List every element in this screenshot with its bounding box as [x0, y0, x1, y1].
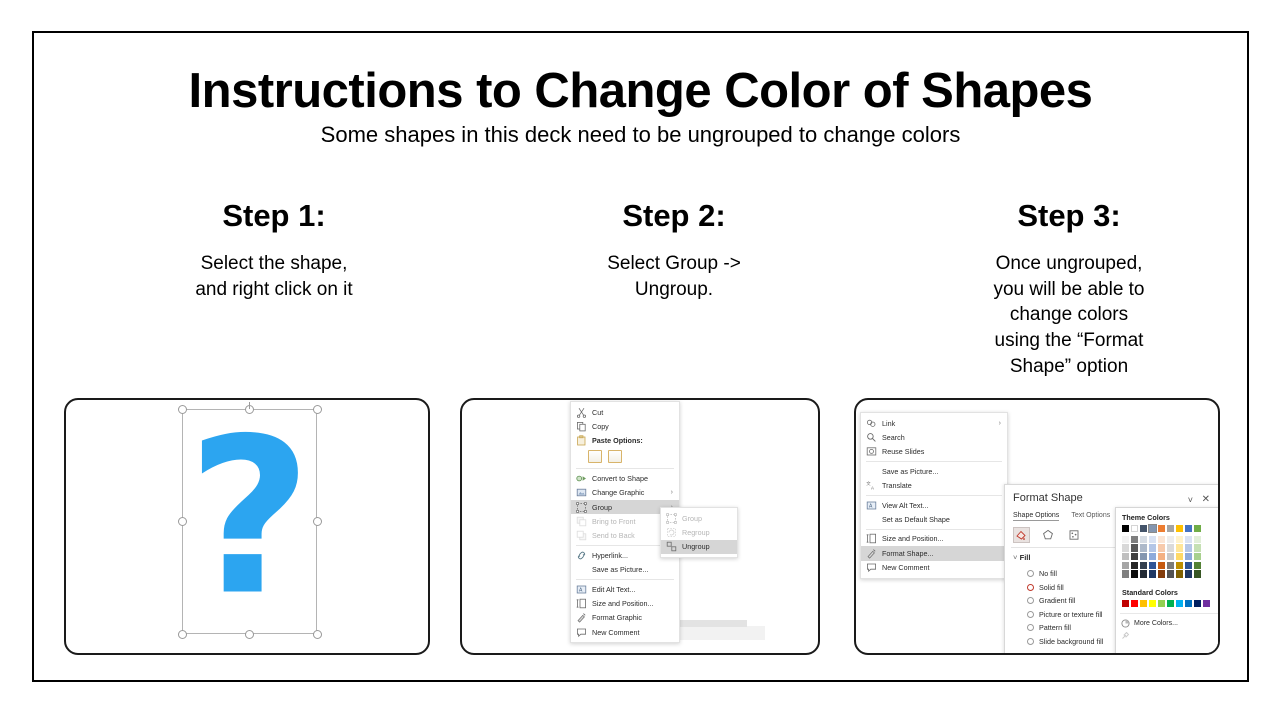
menu-item-label: Ungroup	[682, 542, 731, 551]
paste-icon	[576, 435, 587, 446]
regroup-icon	[666, 527, 677, 538]
theme-color-swatch[interactable]	[1131, 525, 1138, 532]
hyperlink-icon	[576, 550, 587, 561]
size-position-icon	[866, 533, 877, 544]
menu-item-label: Send to Back	[592, 531, 663, 540]
step-2-body: Select Group -> Ungroup.	[524, 251, 824, 302]
selection-handle[interactable]	[245, 630, 254, 639]
more-colors-label: More Colors...	[1134, 620, 1178, 627]
selection-handle[interactable]	[178, 517, 187, 526]
theme-color-column[interactable]	[1140, 525, 1147, 579]
effects-icon[interactable]	[1039, 527, 1056, 543]
theme-color-variant-swatch[interactable]	[1158, 562, 1165, 569]
slide-canvas: Instructions to Change Color of Shapes S…	[32, 31, 1249, 682]
theme-color-variant-swatch[interactable]	[1194, 536, 1201, 543]
selection-handle[interactable]	[313, 630, 322, 639]
fill-option-label: Gradient fill	[1039, 596, 1075, 605]
menu-item-label: Group	[592, 503, 663, 512]
standard-color-swatch[interactable]	[1158, 600, 1165, 607]
menu-item-label: New Comment	[592, 628, 673, 637]
menu-item-translate[interactable]: 文ATranslate	[861, 479, 1007, 493]
menu-item-label: Set as Default Shape	[882, 515, 1001, 524]
menu-item-label: Save as Picture...	[882, 467, 1001, 476]
menu-item-label: Size and Position...	[882, 534, 1001, 543]
standard-colors-swatches[interactable]	[1122, 600, 1212, 607]
theme-color-variant-swatch[interactable]	[1194, 553, 1201, 560]
change-graphic-icon	[576, 487, 587, 498]
menu-item-cut[interactable]: Cut	[571, 405, 679, 419]
step-column-3: Step 3: Once ungrouped, you will be able…	[919, 199, 1219, 379]
standard-color-swatch[interactable]	[1140, 600, 1147, 607]
menu-separator	[866, 495, 1002, 496]
menu-item-save-as-picture[interactable]: Save as Picture...	[861, 464, 1007, 478]
theme-color-column[interactable]	[1149, 525, 1156, 579]
theme-color-variant-swatch[interactable]	[1185, 570, 1192, 577]
menu-item-convert-to-shape[interactable]: Convert to Shape	[571, 471, 679, 485]
theme-color-column[interactable]	[1185, 525, 1192, 579]
radio-button[interactable]	[1027, 624, 1034, 631]
theme-color-variant-swatch[interactable]	[1122, 562, 1129, 569]
color-picker-flyout[interactable]: Theme Colors Standard Colors More Colors…	[1115, 507, 1220, 655]
theme-color-variant-swatch[interactable]	[1149, 553, 1156, 560]
alt-text-icon: A	[576, 584, 587, 595]
theme-color-variant-swatch[interactable]	[1158, 536, 1165, 543]
theme-color-variant-swatch[interactable]	[1122, 544, 1129, 551]
theme-color-variant-swatch[interactable]	[1158, 570, 1165, 577]
theme-color-variant-swatch[interactable]	[1167, 570, 1174, 577]
standard-color-swatch[interactable]	[1122, 600, 1129, 607]
theme-color-variant-swatch[interactable]	[1149, 570, 1156, 577]
menu-item-change-graphic[interactable]: Change Graphic›	[571, 486, 679, 500]
selection-handle[interactable]	[178, 630, 187, 639]
menu-item-set-as-default-shape[interactable]: Set as Default Shape	[861, 512, 1007, 526]
fill-option-label: Pattern fill	[1039, 623, 1071, 632]
menu-item-label: Format Shape...	[882, 549, 1001, 558]
menu-item-label: New Comment	[882, 563, 1001, 572]
format-shape-pane[interactable]: Format Shape ˅ ✕ Shape Options Text Opti…	[1004, 484, 1220, 655]
format-shape-icon-tabs[interactable]	[1013, 527, 1082, 543]
fill-option-label: Slide background fill	[1039, 637, 1103, 646]
link-icon	[866, 418, 877, 429]
standard-color-swatch[interactable]	[1149, 600, 1156, 607]
tab-text-options[interactable]: Text Options	[1071, 512, 1110, 521]
selection-handle[interactable]	[178, 405, 187, 414]
theme-color-variant-swatch[interactable]	[1194, 562, 1201, 569]
fill-section-header[interactable]: ˅ Fill	[1013, 553, 1031, 562]
theme-colors-swatches[interactable]	[1122, 525, 1203, 579]
group-submenu[interactable]: GroupRegroupUngroup	[660, 507, 738, 558]
scissors-icon	[576, 407, 587, 418]
theme-color-variant-swatch[interactable]	[1167, 544, 1174, 551]
format-shape-title: Format Shape	[1013, 492, 1083, 504]
format-shape-tabs[interactable]: Shape Options Text Options	[1013, 512, 1110, 521]
ungroup-icon	[666, 541, 677, 552]
fill-option-label: Picture or texture fill	[1039, 610, 1103, 619]
menu-separator	[866, 461, 1002, 462]
convert-to-shape-icon	[576, 473, 587, 484]
theme-color-variant-swatch[interactable]	[1176, 536, 1183, 543]
theme-color-variant-swatch[interactable]	[1131, 570, 1138, 577]
theme-color-variant-swatch[interactable]	[1176, 544, 1183, 551]
menu-item-view-alt-text[interactable]: AView Alt Text...	[861, 498, 1007, 512]
theme-color-column[interactable]	[1131, 525, 1138, 579]
new-comment-icon	[576, 627, 587, 638]
theme-color-swatch[interactable]	[1140, 525, 1147, 532]
theme-color-swatch[interactable]	[1194, 525, 1201, 532]
question-mark-shape[interactable]: ?	[182, 409, 317, 634]
step-1-body: Select the shape, and right click on it	[124, 251, 424, 302]
theme-color-variant-swatch[interactable]	[1176, 553, 1183, 560]
selection-handle[interactable]	[313, 405, 322, 414]
group-icon	[576, 502, 587, 513]
theme-color-swatch[interactable]	[1185, 525, 1192, 532]
theme-color-variant-swatch[interactable]	[1167, 562, 1174, 569]
step-2-heading: Step 2:	[524, 199, 824, 233]
menu-item-save-as-picture[interactable]: Save as Picture...	[571, 563, 679, 577]
standard-color-swatch[interactable]	[1167, 600, 1174, 607]
paste-picture-button[interactable]	[608, 450, 622, 463]
fill-section-label: Fill	[1020, 553, 1031, 562]
theme-color-variant-swatch[interactable]	[1185, 562, 1192, 569]
menu-item-ungroup[interactable]: Ungroup	[661, 540, 737, 554]
divider	[1120, 613, 1218, 614]
theme-color-swatch[interactable]	[1176, 525, 1183, 532]
eyedropper-icon	[1121, 630, 1130, 641]
theme-color-variant-swatch[interactable]	[1131, 562, 1138, 569]
menu-item-label: View Alt Text...	[882, 501, 1001, 510]
search-icon	[866, 432, 877, 443]
menu-item-edit-alt-text[interactable]: AEdit Alt Text...	[571, 582, 679, 596]
menu-item-label: Change Graphic	[592, 488, 663, 497]
menu-item-copy[interactable]: Copy	[571, 419, 679, 433]
alt-text-icon: A	[866, 500, 877, 511]
format-shape-icon	[866, 548, 877, 559]
theme-color-variant-swatch[interactable]	[1131, 544, 1138, 551]
bring-to-front-icon	[576, 516, 587, 527]
radio-button[interactable]	[1027, 638, 1034, 645]
radio-button[interactable]	[1027, 611, 1034, 618]
menu-item-label: Reuse Slides	[882, 447, 1001, 456]
theme-color-variant-swatch[interactable]	[1158, 553, 1165, 560]
group-icon	[666, 513, 677, 524]
menu-item-format-shape[interactable]: Format Shape...	[861, 546, 1007, 560]
context-menu-step-3[interactable]: Link›SearchReuse SlidesSave as Picture..…	[860, 412, 1008, 579]
question-mark-glyph: ?	[187, 410, 312, 625]
menu-item-group[interactable]: Group	[661, 511, 737, 525]
size-and-properties-icon[interactable]	[1065, 527, 1082, 543]
theme-colors-header: Theme Colors	[1122, 513, 1170, 522]
theme-color-variant-swatch[interactable]	[1194, 544, 1201, 551]
theme-color-variant-swatch[interactable]	[1140, 570, 1147, 577]
chevron-down-icon[interactable]: ˅	[1188, 495, 1193, 505]
fill-option-label: No fill	[1039, 569, 1057, 578]
close-icon[interactable]: ✕	[1202, 494, 1210, 505]
standard-color-swatch[interactable]	[1176, 600, 1183, 607]
menu-item-label: Format Graphic	[592, 613, 673, 622]
theme-color-column[interactable]	[1167, 525, 1174, 579]
menu-separator	[866, 529, 1002, 530]
menu-item-label: Size and Position...	[592, 599, 673, 608]
radio-button[interactable]	[1027, 570, 1034, 577]
fill-option-gradient-fill[interactable]: Gradient fill	[1027, 594, 1103, 608]
theme-color-variant-swatch[interactable]	[1158, 544, 1165, 551]
theme-color-variant-swatch[interactable]	[1140, 544, 1147, 551]
fill-option-slide-background-fill[interactable]: Slide background fill	[1027, 635, 1103, 649]
step-column-2: Step 2: Select Group -> Ungroup.	[524, 199, 824, 302]
theme-color-variant-swatch[interactable]	[1194, 570, 1201, 577]
fill-options-list[interactable]: No fillSolid fillGradient fillPicture or…	[1027, 567, 1103, 648]
radio-button[interactable]	[1027, 597, 1034, 604]
theme-color-variant-swatch[interactable]	[1122, 553, 1129, 560]
fill-option-label: Solid fill	[1039, 583, 1064, 592]
paste-options-buttons[interactable]	[571, 448, 679, 466]
theme-color-variant-swatch[interactable]	[1185, 553, 1192, 560]
theme-color-variant-swatch[interactable]	[1185, 536, 1192, 543]
send-to-back-icon	[576, 530, 587, 541]
standard-color-swatch[interactable]	[1131, 600, 1138, 607]
step-1-heading: Step 1:	[124, 199, 424, 233]
theme-color-column[interactable]	[1176, 525, 1183, 579]
theme-color-variant-swatch[interactable]	[1122, 570, 1129, 577]
menu-item-label: Link	[882, 419, 991, 428]
menu-item-label: Bring to Front	[592, 517, 663, 526]
menu-item-new-comment[interactable]: New Comment	[861, 561, 1007, 575]
standard-color-swatch[interactable]	[1185, 600, 1192, 607]
theme-color-column[interactable]	[1194, 525, 1201, 579]
chevron-right-icon: ›	[999, 420, 1001, 427]
menu-item-label: Save as Picture...	[592, 565, 673, 574]
menu-item-label: Regroup	[682, 528, 731, 537]
menu-item-label: Paste Options:	[592, 436, 673, 445]
theme-color-variant-swatch[interactable]	[1122, 536, 1129, 543]
theme-color-swatch[interactable]	[1149, 525, 1156, 532]
radio-button[interactable]	[1027, 584, 1034, 591]
menu-item-search[interactable]: Search	[861, 430, 1007, 444]
copy-icon	[576, 421, 587, 432]
new-comment-icon	[866, 562, 877, 573]
fill-option-solid-fill[interactable]: Solid fill	[1027, 581, 1103, 595]
theme-color-variant-swatch[interactable]	[1176, 570, 1183, 577]
more-colors-icon	[1121, 618, 1130, 629]
page-title: Instructions to Change Color of Shapes	[34, 63, 1247, 119]
screenshot-panel-step-2: CutCopyPaste Options:Convert to ShapeCha…	[460, 398, 820, 655]
theme-color-variant-swatch[interactable]	[1185, 544, 1192, 551]
menu-item-link[interactable]: Link›	[861, 416, 1007, 430]
svg-text:A: A	[871, 486, 874, 491]
theme-color-variant-swatch[interactable]	[1149, 536, 1156, 543]
menu-item-size-and-position[interactable]: Size and Position...	[861, 532, 1007, 546]
screenshot-panel-step-3: Link›SearchReuse SlidesSave as Picture..…	[854, 398, 1220, 655]
more-colors-item[interactable]: More Colors...	[1121, 618, 1178, 629]
tab-shape-options[interactable]: Shape Options	[1013, 512, 1059, 521]
theme-color-swatch[interactable]	[1158, 525, 1165, 532]
menu-item-label: Cut	[592, 408, 673, 417]
menu-item-label: Translate	[882, 481, 1001, 490]
step-column-1: Step 1: Select the shape, and right clic…	[124, 199, 424, 302]
fill-and-line-icon[interactable]	[1013, 527, 1030, 543]
standard-color-swatch[interactable]	[1203, 600, 1210, 607]
fill-option-picture-or-texture-fill[interactable]: Picture or texture fill	[1027, 608, 1103, 622]
theme-color-swatch[interactable]	[1122, 525, 1129, 532]
theme-color-variant-swatch[interactable]	[1176, 562, 1183, 569]
menu-item-label: Copy	[592, 422, 673, 431]
theme-color-swatch[interactable]	[1167, 525, 1174, 532]
eyedropper-item[interactable]	[1121, 630, 1134, 641]
menu-item-label: Convert to Shape	[592, 474, 673, 483]
menu-item-paste-options: Paste Options:	[571, 434, 679, 448]
theme-color-column[interactable]	[1122, 525, 1129, 579]
format-graphic-icon	[576, 612, 587, 623]
screenshot-panel-step-1: ?	[64, 398, 430, 655]
translate-icon: 文A	[866, 480, 877, 491]
menu-item-regroup[interactable]: Regroup	[661, 525, 737, 539]
paste-keep-source-formatting-button[interactable]	[588, 450, 602, 463]
menu-item-format-graphic[interactable]: Format Graphic	[571, 611, 679, 625]
menu-item-size-and-position[interactable]: Size and Position...	[571, 596, 679, 610]
theme-color-variant-swatch[interactable]	[1149, 544, 1156, 551]
theme-color-variant-swatch[interactable]	[1131, 553, 1138, 560]
page-subtitle: Some shapes in this deck need to be ungr…	[321, 121, 961, 149]
reuse-slides-icon	[866, 446, 877, 457]
theme-color-variant-swatch[interactable]	[1167, 553, 1174, 560]
selection-handle[interactable]	[313, 517, 322, 526]
theme-color-variant-swatch[interactable]	[1149, 562, 1156, 569]
chevron-right-icon: ›	[671, 489, 673, 496]
menu-item-label: Search	[882, 433, 1001, 442]
fill-option-pattern-fill[interactable]: Pattern fill	[1027, 621, 1103, 635]
chevron-expanded-icon: ˅	[1013, 553, 1017, 562]
theme-color-variant-swatch[interactable]	[1140, 553, 1147, 560]
menu-separator	[576, 468, 674, 469]
size-position-icon	[576, 598, 587, 609]
theme-color-variant-swatch[interactable]	[1140, 536, 1147, 543]
menu-item-reuse-slides[interactable]: Reuse Slides	[861, 445, 1007, 459]
menu-item-new-comment[interactable]: New Comment	[571, 625, 679, 639]
rotation-handle-stem[interactable]	[249, 402, 250, 409]
step-3-body: Once ungrouped, you will be able to chan…	[919, 251, 1219, 379]
menu-separator	[576, 579, 674, 580]
theme-color-column[interactable]	[1158, 525, 1165, 579]
theme-color-variant-swatch[interactable]	[1131, 536, 1138, 543]
standard-colors-header: Standard Colors	[1122, 588, 1178, 597]
step-3-heading: Step 3:	[919, 199, 1219, 233]
standard-color-swatch[interactable]	[1194, 600, 1201, 607]
theme-color-variant-swatch[interactable]	[1167, 536, 1174, 543]
menu-item-label: Group	[682, 514, 731, 523]
fill-option-no-fill[interactable]: No fill	[1027, 567, 1103, 581]
menu-item-label: Edit Alt Text...	[592, 585, 673, 594]
theme-color-variant-swatch[interactable]	[1140, 562, 1147, 569]
